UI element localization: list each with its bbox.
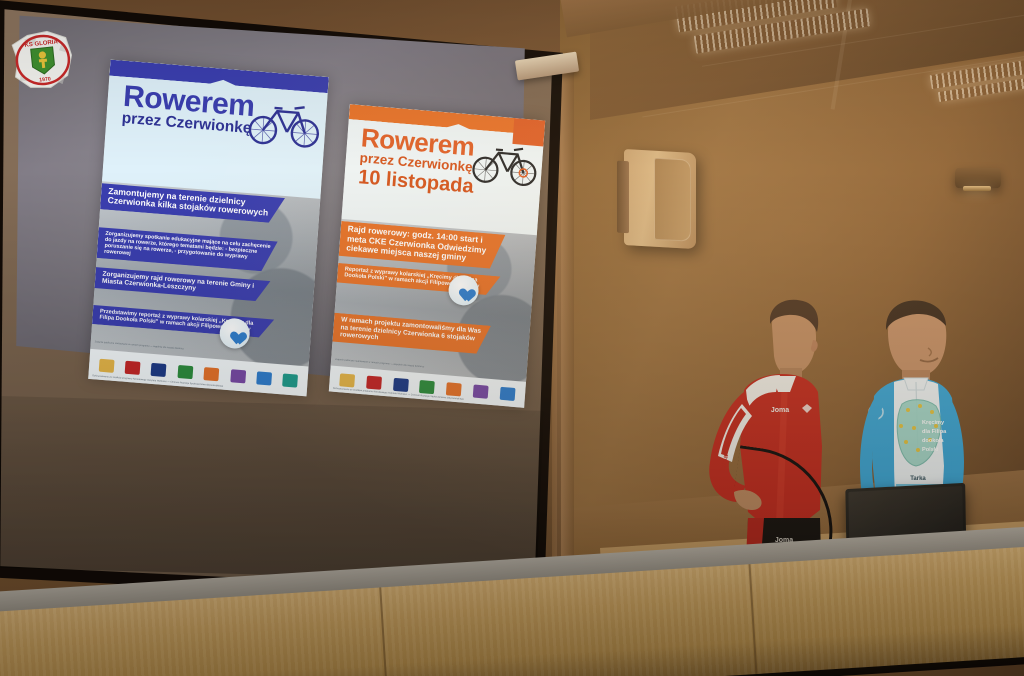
svg-text:Tarka: Tarka [910,476,926,482]
poster-blue-body: Zamontujemy na terenie dzielnicy Czerwio… [88,181,320,396]
speaker-bracket [617,161,629,234]
partner-logo [419,380,435,394]
partner-logo [500,386,516,400]
partner-logo [366,375,382,389]
heart-icon [227,325,243,340]
partner-logo [98,358,114,372]
partner-logo [204,367,220,381]
poster-blue: Rowerem przez Czerwionkę [88,60,329,397]
svg-text:Joma: Joma [771,407,789,414]
partner-logo [125,360,141,374]
partner-logo [446,382,462,396]
partner-logo [393,377,409,391]
svg-text:Kręcimy: Kręcimy [922,420,945,426]
partner-logo [282,373,298,387]
poster-blue-hero: Rowerem przez Czerwionkę [102,60,329,199]
scene-root: KS GLORIA 1970 Rowerem przez Czerwionkę [0,0,1024,676]
poster-orange: Rowerem przez Czerwionkę 10 listopada [329,104,545,408]
partner-logo [473,384,489,398]
poster-orange-body: Rajd rowerowy: godz. 14:00 start i meta … [329,219,537,408]
svg-text:dookoła: dookoła [922,438,944,444]
desk-panel-seam [379,587,388,676]
svg-text:Polski: Polski [922,447,939,453]
heart-icon [456,283,472,298]
partner-logo [339,373,355,387]
bicycle-icon [244,93,325,151]
partner-logo [177,365,193,379]
wall-speaker [624,149,696,249]
ceiling-lamp [955,168,1001,188]
partner-logo [256,371,272,385]
speaker-grille [654,158,691,242]
crest-bottom-text: 1970 [39,76,51,83]
club-crest-icon: KS GLORIA 1970 [3,24,83,97]
desk-panel-seam [749,564,758,674]
poster-orange-hero: Rowerem przez Czerwionkę 10 listopada [341,104,545,235]
bicycle-icon [468,137,541,190]
partner-logo [151,362,167,376]
svg-text:dla Filipa: dla Filipa [922,429,947,435]
partner-logo [230,369,246,383]
